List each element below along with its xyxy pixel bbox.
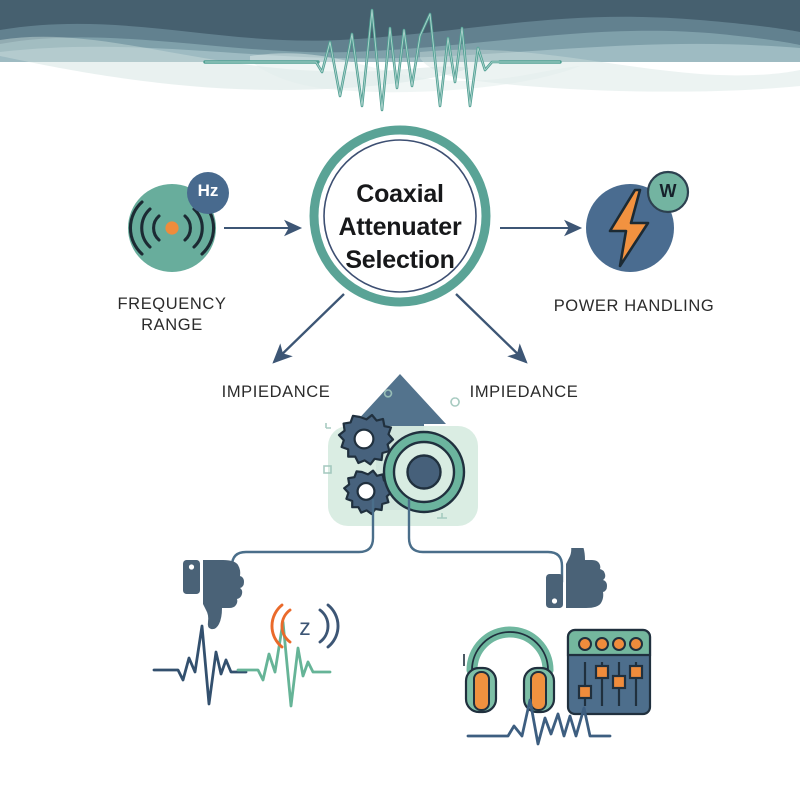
w-badge-label: W	[646, 182, 690, 200]
impedance-z-icon: z	[272, 605, 338, 647]
coax-gear-assembly[interactable]	[300, 360, 510, 570]
mixer-panel-icon	[568, 630, 650, 714]
coax-connector-icon	[384, 432, 464, 512]
power-handling-label: POWER HANDLING	[534, 296, 734, 317]
good-outcome-group[interactable]	[450, 548, 680, 748]
page-title: Coaxial Attenuater Selection	[316, 178, 484, 277]
frequency-range-label: FREQUENCY RANGE	[82, 294, 262, 336]
thumbs-up-icon	[546, 548, 607, 608]
impedance-z-letter: z	[299, 614, 311, 640]
infographic-canvas: Coaxial Attenuater Selection Hz FREQUENC…	[0, 0, 800, 800]
waveform-banner	[0, 0, 800, 115]
hz-badge-label: Hz	[186, 182, 230, 200]
frequency-core-dot	[165, 221, 178, 234]
noisy-waveform-navy	[154, 626, 246, 704]
thumbs-down-icon	[183, 560, 244, 629]
headphones-icon	[464, 632, 554, 712]
bad-outcome-group[interactable]: z	[150, 548, 370, 718]
